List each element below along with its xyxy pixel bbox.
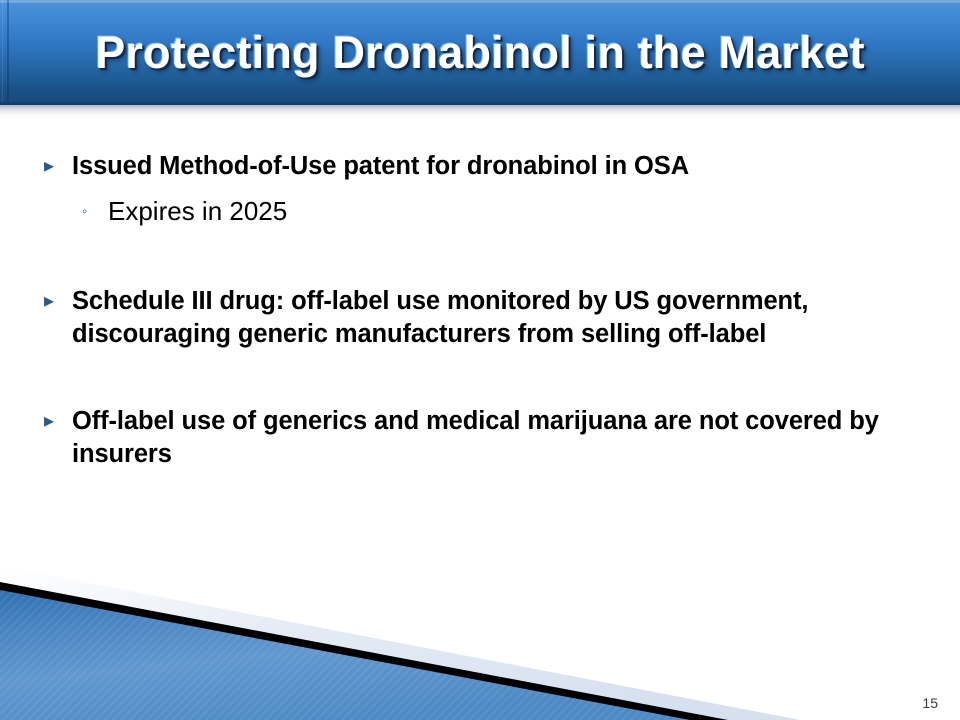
slide-page-number: 15 bbox=[922, 695, 938, 711]
bullet-text-2: Expires in 2025 bbox=[108, 195, 914, 229]
corner-decoration bbox=[0, 560, 960, 720]
spacer-3 bbox=[0, 351, 960, 405]
triangle-bullet-icon: ▸ bbox=[44, 150, 72, 179]
deco-blue-triangle bbox=[0, 590, 690, 720]
banner-drop-shadow bbox=[0, 105, 960, 119]
bullet-text-4: Off-label use of generics and medical ma… bbox=[72, 405, 914, 471]
deco-pale-band bbox=[0, 566, 800, 720]
triangle-bullet-icon: ▸ bbox=[44, 285, 72, 314]
bullet-text-1: Issued Method-of-Use patent for dronabin… bbox=[72, 150, 914, 183]
triangle-bullet-icon: ▸ bbox=[44, 405, 72, 434]
circle-bullet-icon: ◦ bbox=[82, 195, 108, 222]
spacer-1 bbox=[0, 183, 960, 195]
bullet-item-2: ◦ Expires in 2025 bbox=[0, 195, 960, 229]
slide-title-banner: Protecting Dronabinol in the Market bbox=[0, 0, 960, 105]
bullet-text-3: Schedule III drug: off-label use monitor… bbox=[72, 285, 914, 351]
slide-body: ▸ Issued Method-of-Use patent for dronab… bbox=[0, 150, 960, 472]
bullet-item-3: ▸ Schedule III drug: off-label use monit… bbox=[0, 285, 960, 351]
deco-blue-texture bbox=[0, 590, 690, 720]
slide-title: Protecting Dronabinol in the Market bbox=[0, 0, 960, 105]
deco-black-stripe bbox=[0, 582, 728, 720]
bullet-item-1: ▸ Issued Method-of-Use patent for dronab… bbox=[0, 150, 960, 183]
bullet-item-4: ▸ Off-label use of generics and medical … bbox=[0, 405, 960, 471]
spacer-2 bbox=[0, 229, 960, 285]
